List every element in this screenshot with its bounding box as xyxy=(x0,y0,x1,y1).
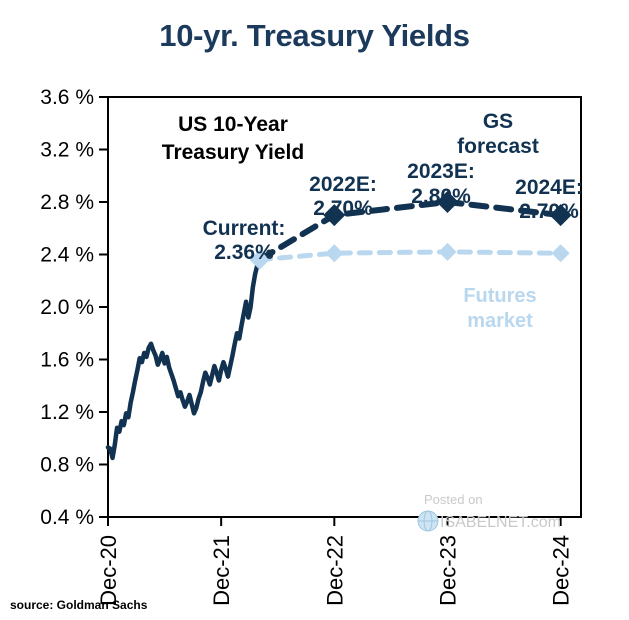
futures-label-line1: Futures xyxy=(463,285,536,307)
e2024-line2: 2.70% xyxy=(519,200,579,223)
annotation-current: Current: 2.36% xyxy=(203,217,286,264)
y-tick-label: 2.8 % xyxy=(40,191,94,214)
x-tick-label: Dec-23 xyxy=(435,535,460,606)
y-tick-label: 2.4 % xyxy=(40,244,94,267)
chart-page: 10-yr. Treasury Yields 3.6 %3.2 %2.8 %2.… xyxy=(0,0,629,620)
e2024-line1: 2024E: xyxy=(515,176,583,199)
watermark-line1: Posted on xyxy=(424,492,483,507)
e2023-line1: 2023E: xyxy=(407,160,475,183)
futures-label-line2: market xyxy=(467,310,533,332)
y-axis-ticks xyxy=(99,97,108,517)
x-tick-label: Dec-22 xyxy=(322,535,347,606)
e2022-line1: 2022E: xyxy=(309,173,377,196)
x-tick-label: Dec-24 xyxy=(549,535,574,606)
chart-plot-area: 3.6 %3.2 %2.8 %2.4 %2.0 %1.6 %1.2 %0.8 %… xyxy=(0,0,629,620)
current-label-line2: 2.36% xyxy=(214,241,274,264)
y-tick-label: 2.0 % xyxy=(40,296,94,319)
source-note: source: Goldman Sachs xyxy=(10,598,147,612)
current-label-line1: Current: xyxy=(203,217,286,240)
y-tick-label: 0.8 % xyxy=(40,454,94,477)
watermark-line2: ISABELNET.com xyxy=(440,514,561,531)
series-label-line2: Treasury Yield xyxy=(162,141,304,164)
y-tick-label: 3.6 % xyxy=(40,86,94,109)
x-axis-labels: Dec-20Dec-21Dec-22Dec-23Dec-24 xyxy=(96,535,574,606)
e2022-line2: 2.70% xyxy=(313,197,373,220)
y-tick-label: 0.4 % xyxy=(40,506,94,529)
gs-label-line2: forecast xyxy=(457,135,539,158)
annotation-2022e: 2022E: 2.70% xyxy=(309,173,377,220)
y-tick-label: 1.2 % xyxy=(40,401,94,424)
annotation-2024e: 2024E: 2.70% xyxy=(515,176,583,223)
x-tick-label: Dec-20 xyxy=(96,535,121,606)
series-label-line1: US 10-Year xyxy=(178,113,288,136)
gs-label-line1: GS xyxy=(483,110,513,133)
x-tick-label: Dec-21 xyxy=(209,535,234,606)
y-axis-labels: 3.6 %3.2 %2.8 %2.4 %2.0 %1.6 %1.2 %0.8 %… xyxy=(40,86,94,529)
e2023-line2: 2.80% xyxy=(411,185,471,208)
y-tick-label: 1.6 % xyxy=(40,349,94,372)
y-tick-label: 3.2 % xyxy=(40,139,94,162)
